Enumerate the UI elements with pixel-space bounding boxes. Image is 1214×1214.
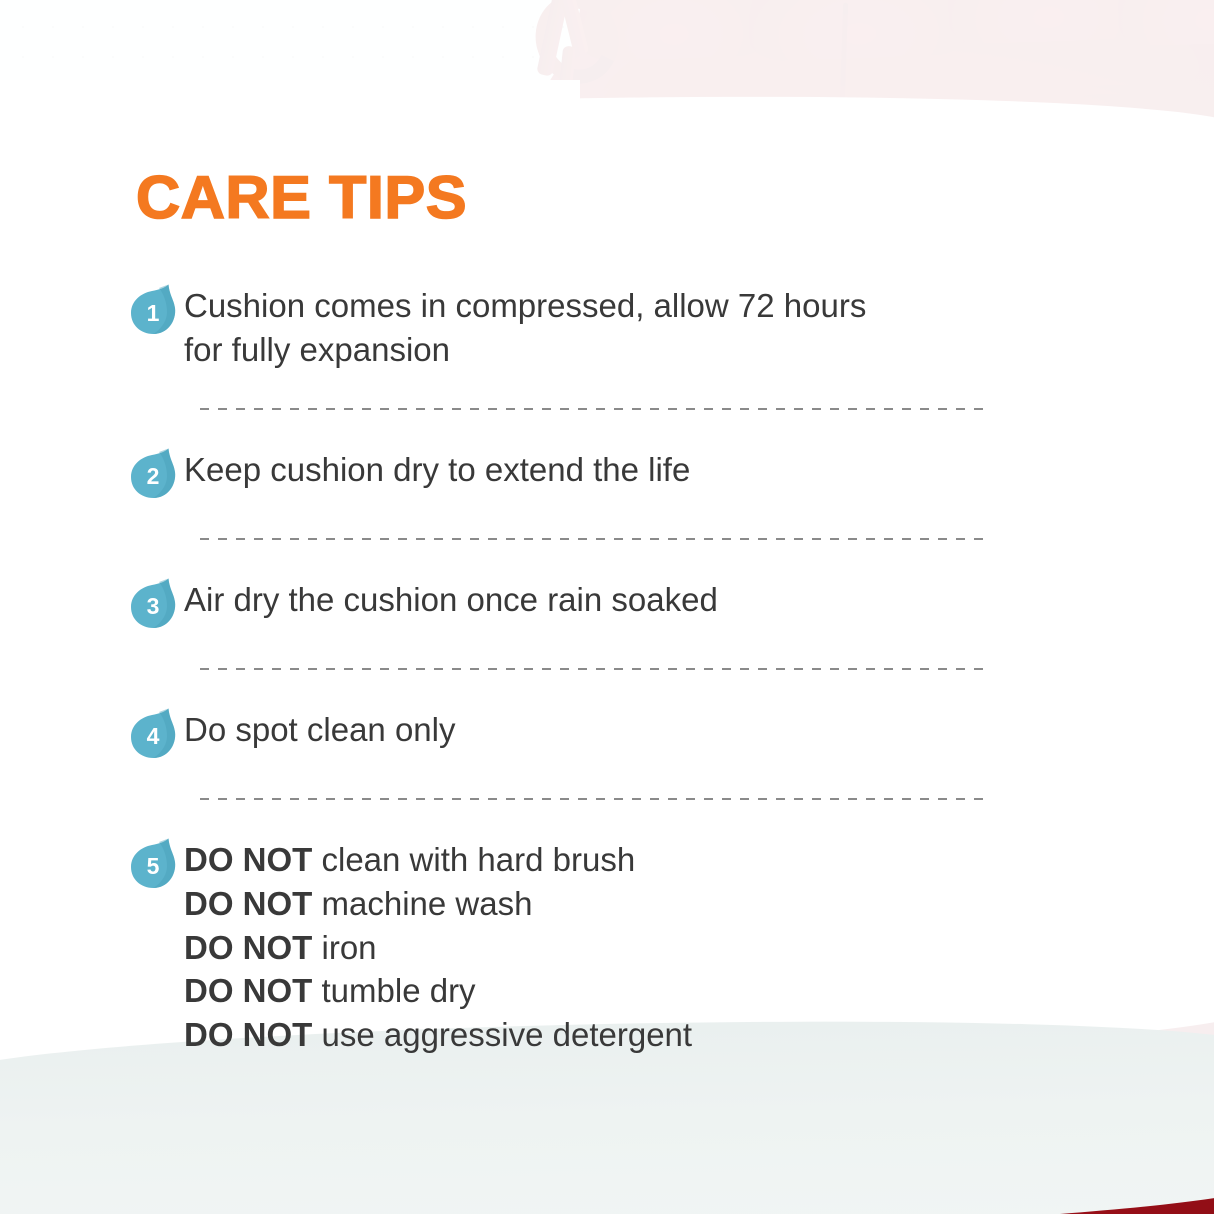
care-tip-line: Do spot clean only <box>184 708 984 752</box>
do-not-emphasis: DO NOT <box>184 1016 312 1053</box>
dashed-divider <box>200 798 986 800</box>
dashed-divider <box>200 408 986 410</box>
care-tip-number: 1 <box>128 282 178 338</box>
care-tip-line: Air dry the cushion once rain soaked <box>184 578 984 622</box>
water-drop-icon: 3 <box>128 576 178 632</box>
care-tip-item: 4Do spot clean only <box>0 706 1214 762</box>
care-tip-line: DO NOT machine wash <box>184 882 984 926</box>
do-not-emphasis: DO NOT <box>184 929 312 966</box>
care-tip-item: 1Cushion comes in compressed, allow 72 h… <box>0 282 1214 372</box>
do-not-emphasis: DO NOT <box>184 972 312 1009</box>
care-tip-line: Keep cushion dry to extend the life <box>184 448 984 492</box>
care-tip-item: 5DO NOT clean with hard brushDO NOT mach… <box>0 836 1214 1057</box>
care-tip-number: 3 <box>128 576 178 632</box>
water-drop-icon: 4 <box>128 706 178 762</box>
content-area: CARE TIPS 1Cushion comes in compressed, … <box>0 0 1214 1214</box>
care-tip-text: Keep cushion dry to extend the life <box>184 446 984 492</box>
care-tip-text: Do spot clean only <box>184 706 984 752</box>
do-not-emphasis: DO NOT <box>184 841 312 878</box>
water-drop-icon: 1 <box>128 282 178 338</box>
care-tips-list: 1Cushion comes in compressed, allow 72 h… <box>0 282 1214 1057</box>
care-tip-line: DO NOT iron <box>184 926 984 970</box>
care-tip-number: 4 <box>128 706 178 762</box>
page-title: CARE TIPS <box>136 168 467 228</box>
care-tip-number: 2 <box>128 446 178 502</box>
do-not-emphasis: DO NOT <box>184 885 312 922</box>
care-tip-line: Cushion comes in compressed, allow 72 ho… <box>184 284 984 328</box>
care-tip-text: Air dry the cushion once rain soaked <box>184 576 984 622</box>
divider-wrapper <box>0 372 1214 446</box>
care-tip-number: 5 <box>128 836 178 892</box>
care-tip-line: DO NOT use aggressive detergent <box>184 1013 984 1057</box>
dashed-divider <box>200 668 986 670</box>
care-tip-line: DO NOT tumble dry <box>184 969 984 1013</box>
care-tip-item: 2Keep cushion dry to extend the life <box>0 446 1214 502</box>
dashed-divider <box>200 538 986 540</box>
water-drop-icon: 2 <box>128 446 178 502</box>
care-tip-text: Cushion comes in compressed, allow 72 ho… <box>184 282 984 372</box>
divider-wrapper <box>0 762 1214 836</box>
care-tip-item: 3Air dry the cushion once rain soaked <box>0 576 1214 632</box>
care-tip-line: DO NOT clean with hard brush <box>184 838 984 882</box>
water-drop-icon: 5 <box>128 836 178 892</box>
care-tip-text: DO NOT clean with hard brushDO NOT machi… <box>184 836 984 1057</box>
divider-wrapper <box>0 632 1214 706</box>
care-tip-line: for fully expansion <box>184 328 984 372</box>
care-tips-infographic: CARE TIPS 1Cushion comes in compressed, … <box>0 0 1214 1214</box>
divider-wrapper <box>0 502 1214 576</box>
